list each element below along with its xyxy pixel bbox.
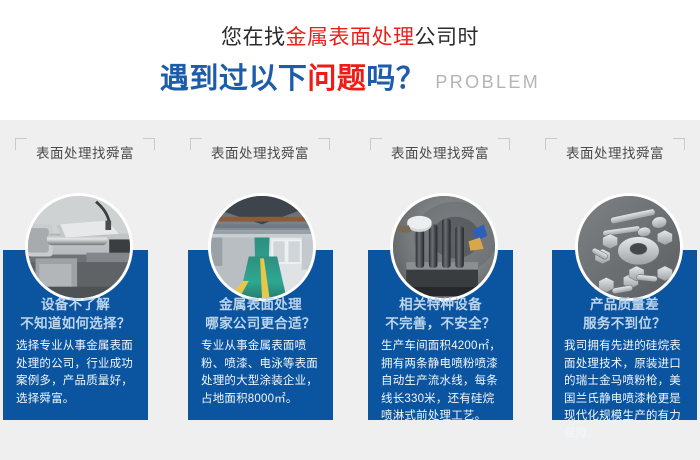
card-badge: 表面处理找舜富 [190, 138, 330, 170]
card-body: 生产车间面积4200㎡，拥有两条静电喷粉喷漆自动生产流水线，每条线长330米，还… [381, 338, 503, 426]
card-title: 产品质量差 服务不到位？ [552, 295, 697, 333]
card-title-line2: 哪家公司更合适？ [188, 314, 333, 333]
card-badge: 表面处理找舜富 [15, 138, 155, 170]
card-badge: 表面处理找舜富 [545, 138, 685, 170]
card-photo [575, 193, 683, 301]
card-photo [208, 193, 316, 301]
page-header: 您在找金属表面处理公司时 遇到过以下问题吗？PROBLEM [0, 0, 700, 120]
card-title-line1: 设备不了解 [3, 295, 148, 314]
card-title: 金属表面处理 哪家公司更合适？ [188, 295, 333, 333]
page-title: 遇到过以下问题吗？PROBLEM [0, 60, 700, 103]
card-title-line2: 不完善，不安全？ [368, 314, 513, 333]
header-subtitle: 您在找金属表面处理公司时 [0, 24, 700, 52]
card-badge-label: 表面处理找舜富 [15, 138, 155, 170]
problem-card[interactable]: 表面处理找舜富 [355, 120, 525, 460]
card-body: 我司拥有先进的硅烷表面处理技术，原装进口的瑞士金马喷粉枪，美国兰氏静电喷漆枪更是… [564, 338, 688, 443]
page-title-part1: 遇到过以下 [160, 63, 308, 95]
card-title-line1: 相关特种设备 [368, 295, 513, 314]
header-subtitle-highlight: 金属表面处理 [286, 26, 415, 49]
header-subtitle-suffix: 公司时 [415, 26, 480, 49]
metal-parts-fixture-photo [393, 196, 495, 298]
card-badge-label: 表面处理找舜富 [545, 138, 685, 170]
card-title-line1: 金属表面处理 [188, 295, 333, 314]
card-title-line2: 服务不到位？ [552, 314, 697, 333]
card-body: 选择专业从事金属表面处理的公司，行业成功案例多，产品质量好，选择舜富。 [16, 338, 136, 408]
card-body: 专业从事金属表面喷粉、喷漆、电泳等表面处理的大型涂装企业，占地面积8000㎡。 [201, 338, 321, 408]
card-title: 相关特种设备 不完善，不安全？ [368, 295, 513, 333]
problem-cards-strip: 表面处理找舜富 [0, 120, 700, 460]
problem-card[interactable]: 表面处理找舜富 [175, 120, 345, 460]
page-title-part2: 吗？ [366, 63, 425, 95]
card-title: 设备不了解 不知道如何选择？ [3, 295, 148, 333]
bolts-nuts-photo [578, 196, 680, 298]
card-badge: 表面处理找舜富 [370, 138, 510, 170]
card-badge-label: 表面处理找舜富 [190, 138, 330, 170]
factory-workshop-photo [211, 196, 313, 298]
problem-card[interactable]: 表面处理找舜富 [0, 120, 170, 460]
header-subtitle-prefix: 您在找 [221, 26, 286, 49]
card-badge-label: 表面处理找舜富 [370, 138, 510, 170]
problem-card[interactable]: 表面处理找舜富 [530, 120, 700, 460]
card-title-line2: 不知道如何选择？ [3, 314, 148, 333]
promo-page: 您在找金属表面处理公司时 遇到过以下问题吗？PROBLEM 表面处理找舜富 [0, 0, 700, 460]
lathe-machine-photo [28, 196, 130, 298]
card-photo [25, 193, 133, 301]
page-title-highlight: 问题 [307, 63, 366, 95]
card-photo [390, 193, 498, 301]
page-title-english: PROBLEM [435, 72, 540, 92]
card-title-line1: 产品质量差 [552, 295, 697, 314]
